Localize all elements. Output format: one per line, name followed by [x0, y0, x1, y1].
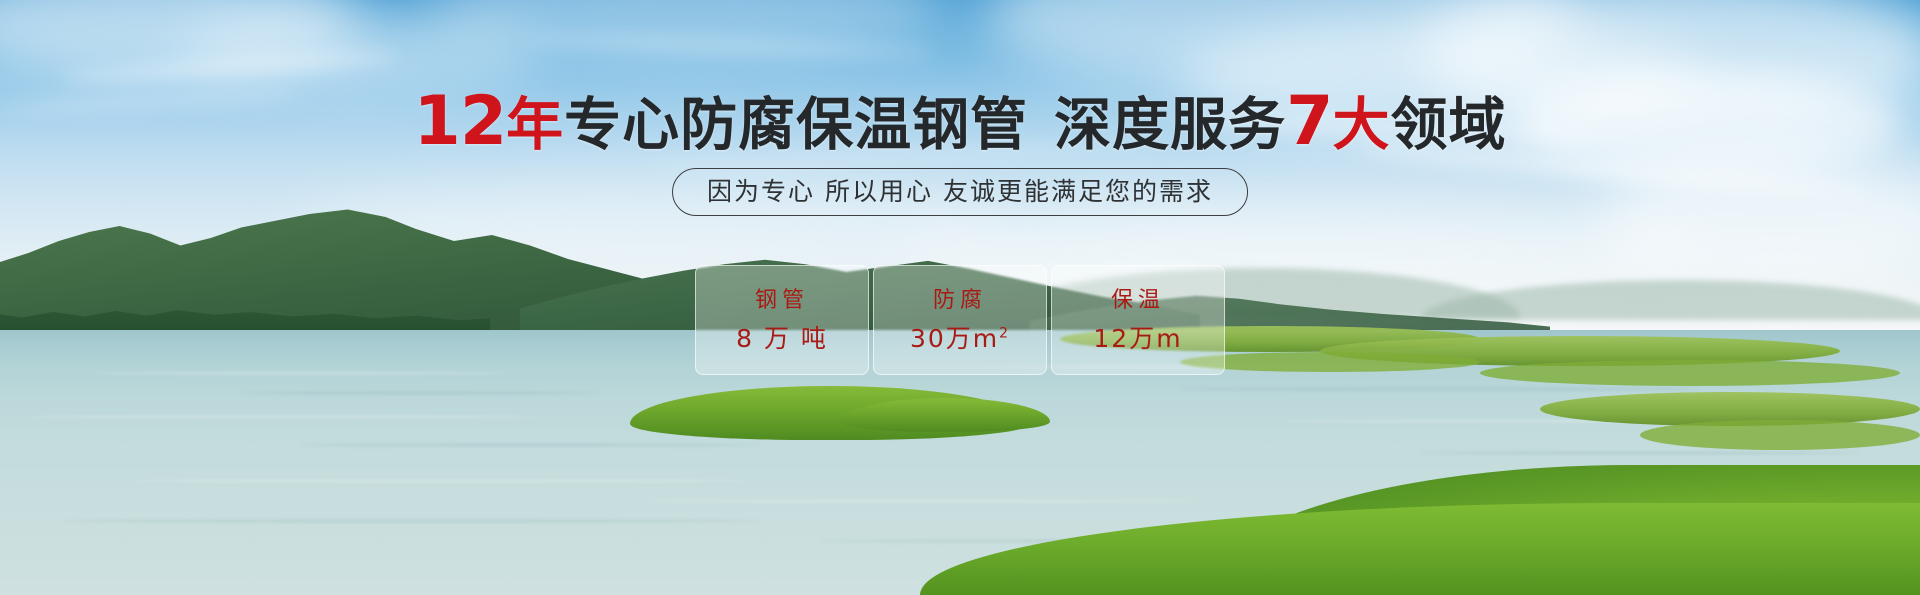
- stat-card-value: 8 万 吨: [736, 326, 828, 351]
- stat-card-title: 钢管: [755, 290, 809, 312]
- stat-card-value-main: 12万m: [1093, 324, 1182, 353]
- stat-card-title: 防腐: [933, 290, 987, 312]
- subtitle-pill: 因为专心 所以用心 友诚更能满足您的需求: [672, 168, 1248, 216]
- stat-card-value: 12万m: [1093, 326, 1182, 351]
- stat-card-title: 保温: [1111, 290, 1165, 312]
- headline-fields-suffix: 领域: [1390, 92, 1506, 158]
- stat-card-insulation: 保温 12万m: [1051, 265, 1225, 375]
- headline: 12年专心防腐保温钢管深度服务7大领域: [0, 88, 1920, 156]
- stat-card-value-superscript: 2: [999, 325, 1010, 341]
- stat-card-value: 30万m2: [910, 326, 1010, 351]
- stat-card-value-main: 30万m: [910, 324, 999, 353]
- headline-years-number: 12: [414, 82, 507, 161]
- stat-card-anticorrosion: 防腐 30万m2: [873, 265, 1047, 375]
- stat-card-value-main: 8 万 吨: [736, 324, 828, 353]
- promotional-banner: 12年专心防腐保温钢管深度服务7大领域 因为专心 所以用心 友诚更能满足您的需求…: [0, 0, 1920, 595]
- stats-card-group: 钢管 8 万 吨 防腐 30万m2 保温 12万m: [695, 265, 1225, 375]
- headline-main-text: 专心防腐保温钢管: [564, 92, 1028, 158]
- banner-content: 12年专心防腐保温钢管深度服务7大领域 因为专心 所以用心 友诚更能满足您的需求…: [0, 0, 1920, 595]
- headline-years-unit: 年: [506, 92, 564, 158]
- headline-fields-unit: 大: [1332, 92, 1390, 158]
- headline-fields-number: 7: [1286, 82, 1332, 161]
- stat-card-steel-pipe: 钢管 8 万 吨: [695, 265, 869, 375]
- headline-service-text: 深度服务: [1054, 92, 1286, 158]
